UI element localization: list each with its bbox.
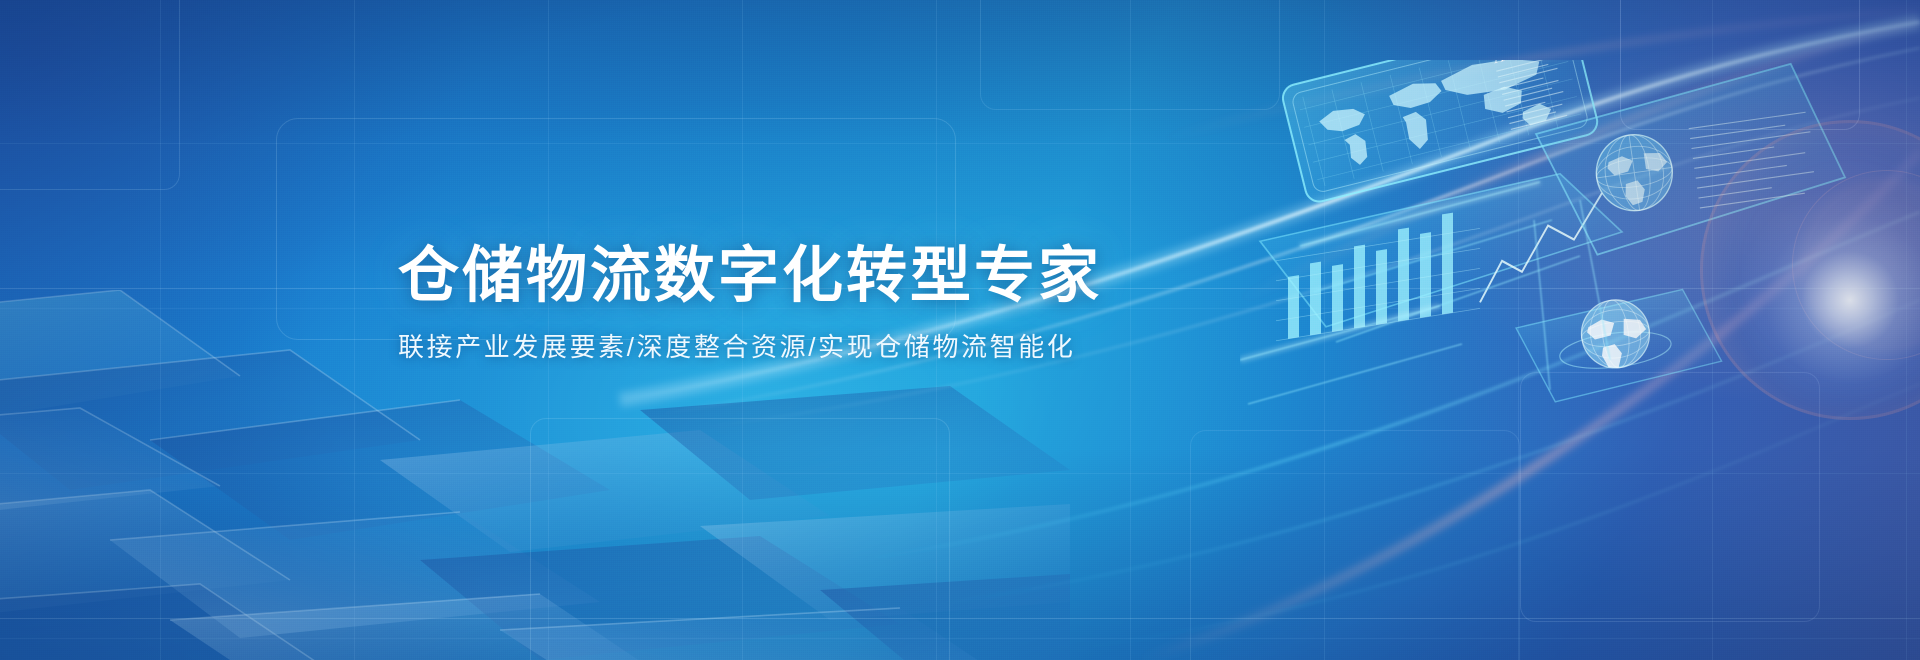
- wire-rect-top-left: [0, 0, 180, 190]
- banner-headline: 仓储物流数字化转型专家: [398, 240, 1398, 310]
- banner-copy: 仓储物流数字化转型专家 联接产业发展要素/深度整合资源/实现仓储物流智能化: [398, 240, 1398, 364]
- banner-subheadline: 联接产业发展要素/深度整合资源/实现仓储物流智能化: [398, 330, 1398, 364]
- wire-rect-top-center: [980, 0, 1280, 110]
- wire-rect-center-low: [530, 418, 950, 660]
- hero-banner: ASIA: [0, 0, 1920, 660]
